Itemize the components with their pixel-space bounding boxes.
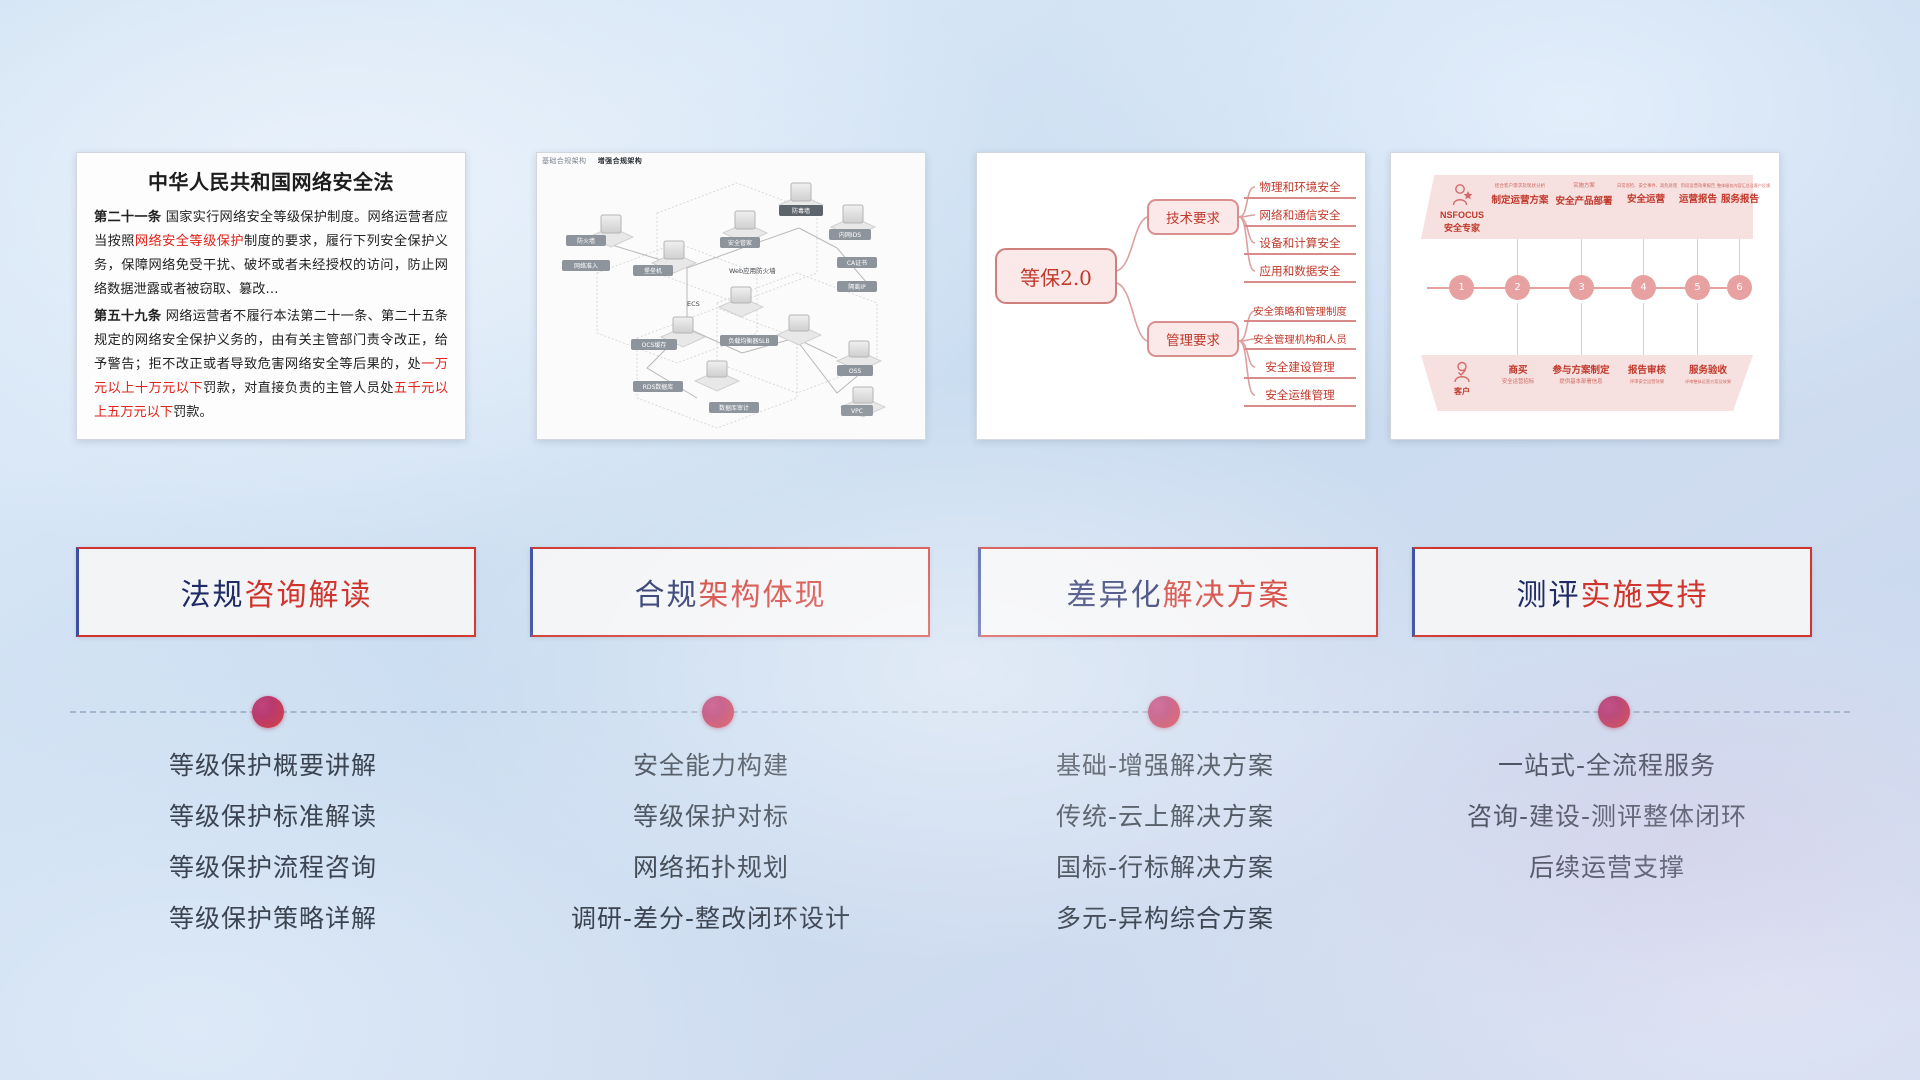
customer-icon bbox=[1452, 361, 1472, 383]
timeline-node-2[interactable] bbox=[702, 696, 734, 728]
step-3-main: 安全运营 bbox=[1617, 191, 1675, 205]
timeline-tick-3 bbox=[1643, 239, 1644, 279]
title-4-blue: 测评 bbox=[1517, 578, 1581, 613]
customer-step-2-sub: 提供基本部署信息 bbox=[1547, 379, 1615, 386]
mindmap-leaf-mgmt-1: 安全策略和管理制度 bbox=[1244, 303, 1356, 322]
bullet-1-2: 等级保护标准解读 bbox=[58, 791, 488, 842]
law-article-59: 第五十九条 网络运营者不履行本法第二十一条、第二十五条规定的网络安全保护义务的，… bbox=[94, 305, 448, 425]
svg-text:堡垒机: 堡垒机 bbox=[644, 267, 662, 275]
title-box-evaluation-support[interactable]: 测评实施支持 bbox=[1412, 547, 1812, 637]
card-cybersecurity-law[interactable]: 中华人民共和国网络安全法 第二十一条 国家实行网络安全等级保护制度。网络运营者应… bbox=[76, 152, 466, 440]
bullet-4-2: 咨询-建设-测评整体闭环 bbox=[1392, 791, 1822, 842]
title-1-text: 法规咨询解读 bbox=[181, 570, 373, 614]
article-59-label: 第五十九条 bbox=[94, 309, 161, 324]
customer-step-1-main: 商买 bbox=[1491, 362, 1545, 376]
step-5-sub: 整体服务内容汇总及客户反馈 bbox=[1717, 183, 1763, 188]
svg-text:内网IDS: 内网IDS bbox=[839, 231, 861, 239]
title-boxes-row: 法规咨询解读 合规架构体现 差异化解决方案 测评实施支持 bbox=[0, 547, 1920, 639]
step-2-main: 安全产品部署 bbox=[1553, 193, 1615, 207]
mindmap-branch-management: 管理要求 bbox=[1147, 321, 1239, 357]
card-service-timeline[interactable]: NSFOCUS 安全专家 结合客户需求及现状分析 制定运营方案 实施方案 安全产… bbox=[1390, 152, 1780, 440]
timeline-customer-step-4: 服务验收 评审整体运营方案及效果 bbox=[1677, 359, 1739, 384]
svg-text:OSS: OSS bbox=[849, 368, 862, 375]
timeline-tick-6 bbox=[1517, 303, 1518, 355]
mindmap-leaf-tech-1: 物理和环境安全 bbox=[1244, 179, 1356, 199]
architecture-svg: 防火墙 网络准入 堡垒机 安全管家 防毒墙 内网IDS CA证书 隔离IP 负载… bbox=[537, 153, 926, 440]
architecture-diagram: 基础合规架构 增强合规架构 bbox=[537, 153, 925, 439]
timeline-tick-2 bbox=[1581, 239, 1582, 279]
timeline-node-4[interactable] bbox=[1598, 696, 1630, 728]
timeline-customer-step-2: 参与方案制定 提供基本部署信息 bbox=[1547, 359, 1615, 386]
bullet-2-4: 调研-差分-整改闭环设计 bbox=[496, 893, 926, 944]
bullet-column-1: 等级保护概要讲解 等级保护标准解读 等级保护流程咨询 等级保护策略详解 bbox=[58, 740, 488, 944]
law-article-21: 第二十一条 国家实行网络安全等级保护制度。网络运营者应当按照网络安全等级保护制度… bbox=[94, 206, 448, 302]
svg-text:防火墙: 防火墙 bbox=[577, 237, 595, 245]
title-box-regulation-consulting[interactable]: 法规咨询解读 bbox=[76, 547, 476, 637]
customer-step-1-sub: 安全运营招标 bbox=[1491, 379, 1545, 386]
mindmap-leaf-mgmt-2: 安全管理机构和人员 bbox=[1244, 331, 1356, 350]
bullet-2-3: 网络拓扑规划 bbox=[496, 842, 926, 893]
svg-text:隔离IP: 隔离IP bbox=[848, 283, 866, 291]
timeline-node-3[interactable] bbox=[1148, 696, 1180, 728]
title-1-blue: 法规 bbox=[181, 578, 245, 613]
svg-text:CA证书: CA证书 bbox=[847, 259, 867, 267]
step-3-sub: 日常巡检、安全事件、高危处理 bbox=[1617, 183, 1675, 188]
timeline-tick-7 bbox=[1581, 303, 1582, 355]
bullet-1-3: 等级保护流程咨询 bbox=[58, 842, 488, 893]
mindmap-leaf-tech-4: 应用和数据安全 bbox=[1244, 263, 1356, 283]
timeline-step-4: 阶段运营效果报告 运营报告 bbox=[1675, 183, 1721, 205]
timeline-customer-step-1: 商买 安全运营招标 bbox=[1491, 359, 1545, 386]
timeline-marker-3: 3 bbox=[1569, 275, 1594, 300]
bullet-3-3: 国标-行标解决方案 bbox=[950, 842, 1380, 893]
article-21-highlight: 网络安全等级保护 bbox=[135, 234, 244, 249]
timeline-tick-1 bbox=[1517, 239, 1518, 279]
customer-label: 客户 bbox=[1435, 386, 1489, 397]
timeline-marker-5: 5 bbox=[1685, 275, 1710, 300]
bullet-3-1: 基础-增强解决方案 bbox=[950, 740, 1380, 791]
timeline-strip bbox=[0, 692, 1920, 732]
svg-text:OCS缓存: OCS缓存 bbox=[642, 341, 667, 349]
timeline-tick-9 bbox=[1697, 303, 1698, 355]
card-compliance-architecture[interactable]: 基础合规架构 增强合规架构 bbox=[536, 152, 926, 440]
slide-canvas: 中华人民共和国网络安全法 第二十一条 国家实行网络安全等级保护制度。网络运营者应… bbox=[0, 0, 1920, 1080]
title-2-text: 合规架构体现 bbox=[635, 570, 827, 614]
timeline-step-1: 结合客户需求及现状分析 制定运营方案 bbox=[1489, 183, 1551, 206]
svg-text:防毒墙: 防毒墙 bbox=[792, 207, 810, 215]
timeline-customer: 客户 bbox=[1435, 361, 1489, 397]
bullet-3-4: 多元-异构综合方案 bbox=[950, 893, 1380, 944]
timeline-node-1[interactable] bbox=[252, 696, 284, 728]
bullet-1-4: 等级保护策略详解 bbox=[58, 893, 488, 944]
mindmap-root: 等保2.0 bbox=[995, 248, 1117, 304]
bullet-4-1: 一站式-全流程服务 bbox=[1392, 740, 1822, 791]
title-3-red: 解决方案 bbox=[1163, 578, 1291, 613]
title-1-red: 咨询解读 bbox=[245, 578, 373, 613]
step-4-sub: 阶段运营效果报告 bbox=[1675, 183, 1721, 188]
law-document: 中华人民共和国网络安全法 第二十一条 国家实行网络安全等级保护制度。网络运营者应… bbox=[77, 153, 465, 436]
timeline-marker-2: 2 bbox=[1505, 275, 1530, 300]
article-21-label: 第二十一条 bbox=[94, 210, 161, 225]
title-box-differentiated-solution[interactable]: 差异化解决方案 bbox=[978, 547, 1378, 637]
security-expert-icon bbox=[1451, 183, 1473, 207]
timeline-brand: NSFOCUS 安全专家 bbox=[1433, 183, 1491, 234]
svg-text:安全管家: 安全管家 bbox=[728, 239, 752, 247]
customer-step-3-main: 报告审核 bbox=[1619, 362, 1675, 376]
brand-subtitle: 安全专家 bbox=[1433, 221, 1491, 234]
article-59-mid: 罚款，对直接负责的主管人员处 bbox=[203, 381, 394, 396]
timeline-customer-step-3: 报告审核 评审安全运营效果 bbox=[1619, 359, 1675, 384]
customer-step-4-sub: 评审整体运营方案及效果 bbox=[1677, 379, 1739, 384]
title-4-red: 实施支持 bbox=[1581, 578, 1709, 613]
timeline-tick-4 bbox=[1697, 239, 1698, 279]
service-timeline: NSFOCUS 安全专家 结合客户需求及现状分析 制定运营方案 实施方案 安全产… bbox=[1391, 153, 1779, 439]
mindmap-leaf-tech-2: 网络和通信安全 bbox=[1244, 207, 1356, 227]
title-4-text: 测评实施支持 bbox=[1517, 570, 1709, 614]
title-box-compliance-architecture[interactable]: 合规架构体现 bbox=[530, 547, 930, 637]
bullet-column-4: 一站式-全流程服务 咨询-建设-测评整体闭环 后续运营支撑 bbox=[1392, 740, 1822, 893]
customer-step-4-main: 服务验收 bbox=[1677, 362, 1739, 376]
bullet-4-3: 后续运营支撑 bbox=[1392, 842, 1822, 893]
svg-text:ECS: ECS bbox=[687, 300, 700, 308]
timeline-marker-1: 1 bbox=[1449, 275, 1474, 300]
brand-name: NSFOCUS bbox=[1433, 210, 1491, 220]
timeline-marker-4: 4 bbox=[1631, 275, 1656, 300]
mindmap: 等保2.0 技术要求 管理要求 物理和环境安全 网络和通信安全 设备和计算安全 … bbox=[977, 153, 1365, 439]
bullet-1-1: 等级保护概要讲解 bbox=[58, 740, 488, 791]
title-3-text: 差异化解决方案 bbox=[1067, 570, 1291, 614]
bullet-2-1: 安全能力构建 bbox=[496, 740, 926, 791]
law-title: 中华人民共和国网络安全法 bbox=[94, 166, 448, 195]
step-4-main: 运营报告 bbox=[1675, 191, 1721, 205]
timeline-dashed-line bbox=[70, 711, 1850, 713]
mindmap-branch-technical: 技术要求 bbox=[1147, 199, 1239, 235]
step-2-sub: 实施方案 bbox=[1553, 183, 1615, 190]
bullet-2-2: 等级保护对标 bbox=[496, 791, 926, 842]
bullet-column-3: 基础-增强解决方案 传统-云上解决方案 国标-行标解决方案 多元-异构综合方案 bbox=[950, 740, 1380, 944]
customer-step-3-sub: 评审安全运营效果 bbox=[1619, 379, 1675, 384]
timeline-marker-6: 6 bbox=[1727, 275, 1752, 300]
timeline-step-3: 日常巡检、安全事件、高危处理 安全运营 bbox=[1617, 183, 1675, 205]
step-1-main: 制定运营方案 bbox=[1489, 192, 1551, 206]
timeline-step-2: 实施方案 安全产品部署 bbox=[1553, 183, 1615, 207]
svg-text:RDS数据库: RDS数据库 bbox=[643, 383, 674, 391]
card-mindmap-dengbao[interactable]: 等保2.0 技术要求 管理要求 物理和环境安全 网络和通信安全 设备和计算安全 … bbox=[976, 152, 1366, 440]
title-2-red: 架构体现 bbox=[699, 578, 827, 613]
bullet-columns-row: 等级保护概要讲解 等级保护标准解读 等级保护流程咨询 等级保护策略详解 安全能力… bbox=[0, 740, 1920, 970]
svg-text:网络准入: 网络准入 bbox=[574, 262, 598, 270]
svg-text:负载均衡器SLB: 负载均衡器SLB bbox=[728, 337, 769, 345]
bullet-3-2: 传统-云上解决方案 bbox=[950, 791, 1380, 842]
mindmap-leaf-tech-3: 设备和计算安全 bbox=[1244, 235, 1356, 255]
step-1-sub: 结合客户需求及现状分析 bbox=[1489, 183, 1551, 189]
mindmap-leaf-mgmt-3: 安全建设管理 bbox=[1244, 359, 1356, 379]
title-3-blue: 差异化 bbox=[1067, 578, 1163, 613]
mindmap-leaf-mgmt-4: 安全运维管理 bbox=[1244, 387, 1356, 407]
title-2-blue: 合规 bbox=[635, 578, 699, 613]
timeline-step-5: 整体服务内容汇总及客户反馈 服务报告 bbox=[1717, 183, 1763, 205]
step-5-main: 服务报告 bbox=[1717, 191, 1763, 205]
svg-text:VPC: VPC bbox=[851, 408, 863, 415]
top-cards-row: 中华人民共和国网络安全法 第二十一条 国家实行网络安全等级保护制度。网络运营者应… bbox=[0, 152, 1920, 452]
bullet-column-2: 安全能力构建 等级保护对标 网络拓扑规划 调研-差分-整改闭环设计 bbox=[496, 740, 926, 944]
customer-step-2-main: 参与方案制定 bbox=[1547, 362, 1615, 376]
svg-text:Web应用防火墙: Web应用防火墙 bbox=[729, 266, 776, 275]
timeline-tick-5 bbox=[1739, 239, 1740, 279]
article-59-text-after: 罚款。 bbox=[173, 405, 213, 420]
timeline-tick-8 bbox=[1643, 303, 1644, 355]
svg-text:数据库审计: 数据库审计 bbox=[719, 404, 749, 412]
